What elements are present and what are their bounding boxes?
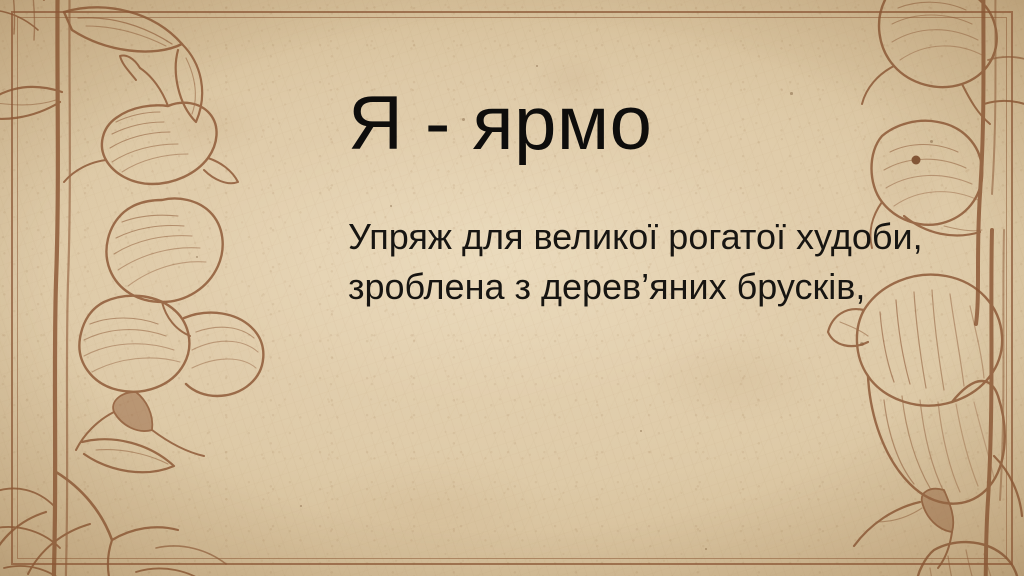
slide-text-block: Я - ярмо Упряж для великої рогатої худоб… (348, 86, 948, 311)
slide-title: Я - ярмо (348, 86, 948, 162)
slide-body-text: Упряж для великої рогатої худоби, зробле… (348, 162, 933, 311)
slide-canvas: Я - ярмо Упряж для великої рогатої худоб… (0, 0, 1024, 576)
